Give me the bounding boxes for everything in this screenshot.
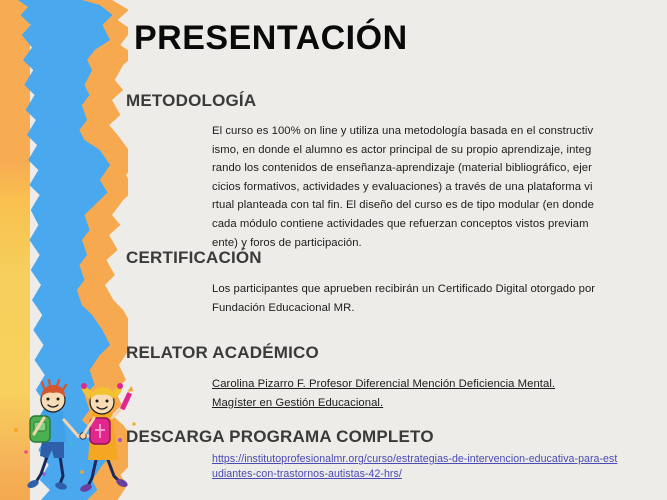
- text-line: rando los contenidos de enseñanza-aprend…: [212, 159, 667, 178]
- text-line: Magíster en Gestión Educacional.: [212, 394, 652, 413]
- text-line: ismo, en donde el alumno es actor princi…: [212, 141, 667, 160]
- presentation-slide: PRESENTACIÓN METODOLOGÍA El curso es 100…: [0, 0, 667, 500]
- url-line[interactable]: udiantes-con-trastornos-autistas-42-hrs/: [212, 467, 542, 482]
- text-line: cada módulo contiene actividades que ref…: [212, 215, 667, 234]
- text-line: Fundación Educacional MR.: [212, 299, 652, 318]
- section-heading-certificacion: CERTIFICACIÓN: [126, 247, 262, 269]
- paragraph-certificacion: Los participantes que aprueben recibirán…: [212, 280, 652, 317]
- text-line: rtual planteada con tal fin. El diseño d…: [212, 196, 667, 215]
- paragraph-metodologia: El curso es 100% on line y utiliza una m…: [212, 122, 667, 252]
- section-heading-relator: RELATOR ACADÉMICO: [126, 342, 319, 364]
- slide-content: PRESENTACIÓN METODOLOGÍA El curso es 100…: [0, 0, 667, 500]
- paragraph-relator: Carolina Pizarro F. Profesor Diferencial…: [212, 375, 652, 412]
- page-title: PRESENTACIÓN: [134, 17, 408, 59]
- url-line[interactable]: https://institutoprofesionalmr.org/curso…: [212, 452, 542, 467]
- program-download-link[interactable]: https://institutoprofesionalmr.org/curso…: [212, 452, 542, 482]
- section-heading-metodologia: METODOLOGÍA: [126, 90, 256, 112]
- text-line: cicios formativos, actividades y evaluac…: [212, 178, 667, 197]
- text-line: El curso es 100% on line y utiliza una m…: [212, 122, 667, 141]
- text-line: Los participantes que aprueben recibirán…: [212, 280, 652, 299]
- section-heading-descarga: DESCARGA PROGRAMA COMPLETO: [126, 426, 434, 448]
- text-line: ente) y foros de participación.: [212, 234, 667, 253]
- text-line: Carolina Pizarro F. Profesor Diferencial…: [212, 375, 652, 394]
